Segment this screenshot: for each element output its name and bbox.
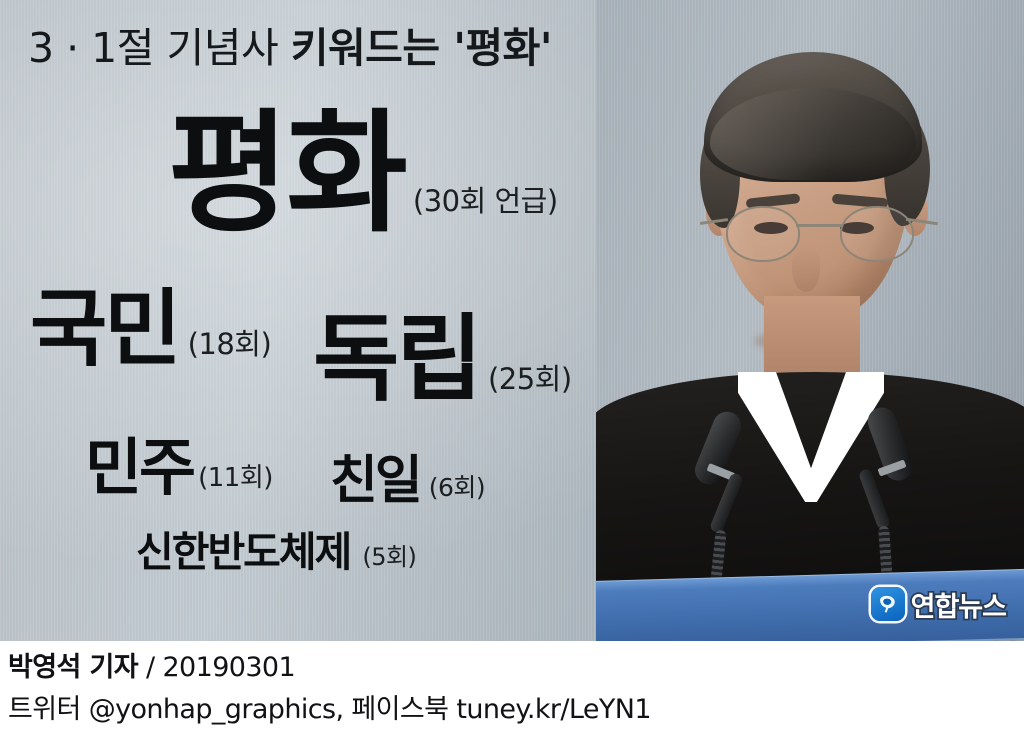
wordcloud-word: 평화 <box>168 108 405 240</box>
glasses-lens-left <box>726 206 800 262</box>
caption-social-line: 트위터 @yonhap_graphics, 페이스북 tuney.kr/LeYN… <box>8 689 1024 731</box>
keyword-wordcloud: 평화 (30회 언급) 국민 (18회) 독립 (25회) 민주 (11회) 친… <box>0 0 640 641</box>
wordcloud-word: 민주 <box>85 437 193 499</box>
yonhap-y-icon <box>871 587 905 621</box>
wordcloud-count: (5회) <box>362 545 416 569</box>
wordcloud-word: 독립 <box>313 313 480 407</box>
wordcloud-item-independence: 독립 (25회) <box>313 313 572 407</box>
wordcloud-word: 친일 <box>330 455 420 507</box>
yonhap-logo-text: 연합뉴스 <box>911 585 1006 624</box>
graphic-panel: 3 · 1절 기념사 키워드는 '평화' 평화 (30회 언급) 국민 (18회… <box>0 0 1024 641</box>
nose <box>792 246 820 292</box>
wordcloud-item-people: 국민 (18회) <box>30 287 271 371</box>
caption-date: / 20190301 <box>138 652 295 683</box>
yonhap-logo: 연합뉴스 <box>871 585 1006 623</box>
infographic-root: 3 · 1절 기념사 키워드는 '평화' 평화 (30회 언급) 국민 (18회… <box>0 0 1024 736</box>
caption-strip: 박영석 기자 / 20190301 트위터 @yonhap_graphics, … <box>0 641 1024 736</box>
caption-reporter-name: 박영석 기자 <box>8 652 138 683</box>
speaker-photo <box>596 0 1024 641</box>
glasses-lens-right <box>840 206 914 262</box>
wordcloud-word: 신한반도체제 <box>136 532 350 573</box>
wordcloud-item-democracy: 민주 (11회) <box>85 437 273 499</box>
wordcloud-count: (11회) <box>198 465 273 491</box>
glasses-bridge <box>796 224 842 227</box>
wordcloud-item-projapanese: 친일 (6회) <box>330 455 485 507</box>
wordcloud-count: (6회) <box>429 475 485 500</box>
wordcloud-item-peace: 평화 (30회 언급) <box>168 108 558 240</box>
caption-credit-line: 박영석 기자 / 20190301 <box>8 647 1024 689</box>
wordcloud-count: (25회) <box>488 365 572 394</box>
wordcloud-count: (30회 언급) <box>413 187 558 216</box>
wordcloud-count: (18회) <box>188 330 272 359</box>
wordcloud-word: 국민 <box>30 287 179 371</box>
glasses-icon <box>724 206 914 262</box>
wordcloud-item-new-peninsula-regime: 신한반도체제 (5회) <box>136 532 416 573</box>
